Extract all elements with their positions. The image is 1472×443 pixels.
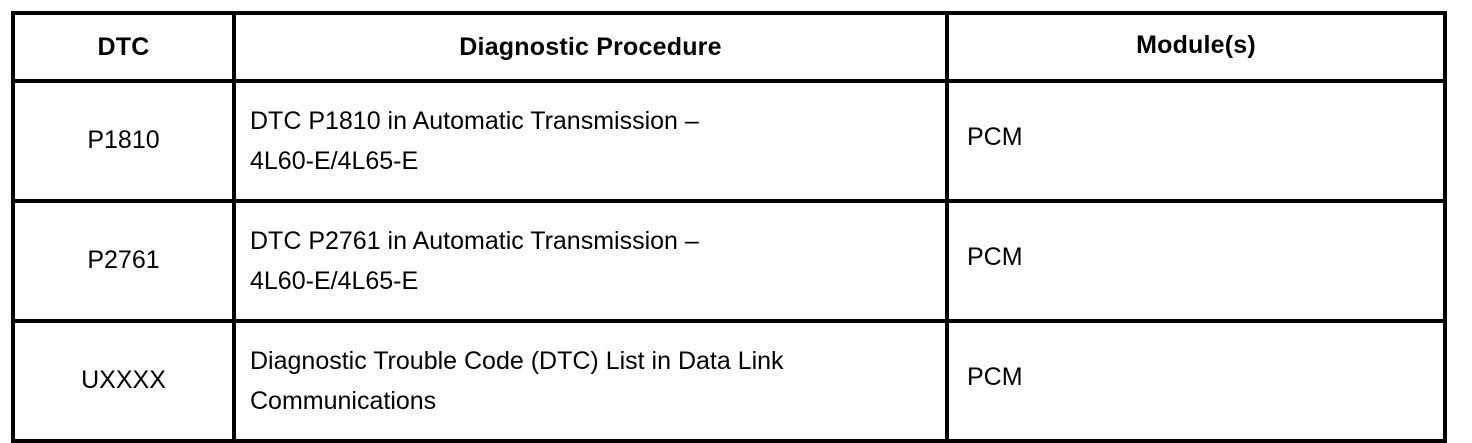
cell-module: PCM [947, 321, 1445, 441]
dtc-diagnostic-table: DTC Diagnostic Procedure Module(s) P1810… [11, 11, 1447, 443]
table-row: UXXXX Diagnostic Trouble Code (DTC) List… [13, 321, 1445, 441]
page-canvas: DTC Diagnostic Procedure Module(s) P1810… [0, 0, 1472, 442]
column-header-modules: Module(s) [947, 13, 1445, 81]
header-row: DTC Diagnostic Procedure Module(s) [13, 13, 1445, 81]
procedure-line-2: Communications [250, 381, 933, 422]
table-row: P2761 DTC P2761 in Automatic Transmissio… [13, 201, 1445, 321]
procedure-line-1: DTC P2761 in Automatic Transmission – [250, 221, 933, 262]
table-header: DTC Diagnostic Procedure Module(s) [13, 13, 1445, 81]
cell-dtc-code: P1810 [13, 81, 234, 201]
module-label: PCM [967, 243, 1443, 272]
cell-module: PCM [947, 81, 1445, 201]
table-row: P1810 DTC P1810 in Automatic Transmissio… [13, 81, 1445, 201]
cell-diagnostic-procedure: DTC P1810 in Automatic Transmission – 4L… [234, 81, 947, 201]
table-body: P1810 DTC P1810 in Automatic Transmissio… [13, 81, 1445, 441]
cell-dtc-code: UXXXX [13, 321, 234, 441]
cell-dtc-code: P2761 [13, 201, 234, 321]
column-header-dtc: DTC [13, 13, 234, 81]
cell-module: PCM [947, 201, 1445, 321]
procedure-line-1: DTC P1810 in Automatic Transmission – [250, 101, 933, 142]
module-label: PCM [967, 363, 1443, 392]
column-header-diagnostic-procedure: Diagnostic Procedure [234, 13, 947, 81]
module-label: PCM [967, 123, 1443, 152]
cell-diagnostic-procedure: Diagnostic Trouble Code (DTC) List in Da… [234, 321, 947, 441]
procedure-line-2: 4L60-E/4L65-E [250, 261, 933, 302]
procedure-line-2: 4L60-E/4L65-E [250, 141, 933, 182]
procedure-line-1: Diagnostic Trouble Code (DTC) List in Da… [250, 341, 933, 382]
cell-diagnostic-procedure: DTC P2761 in Automatic Transmission – 4L… [234, 201, 947, 321]
